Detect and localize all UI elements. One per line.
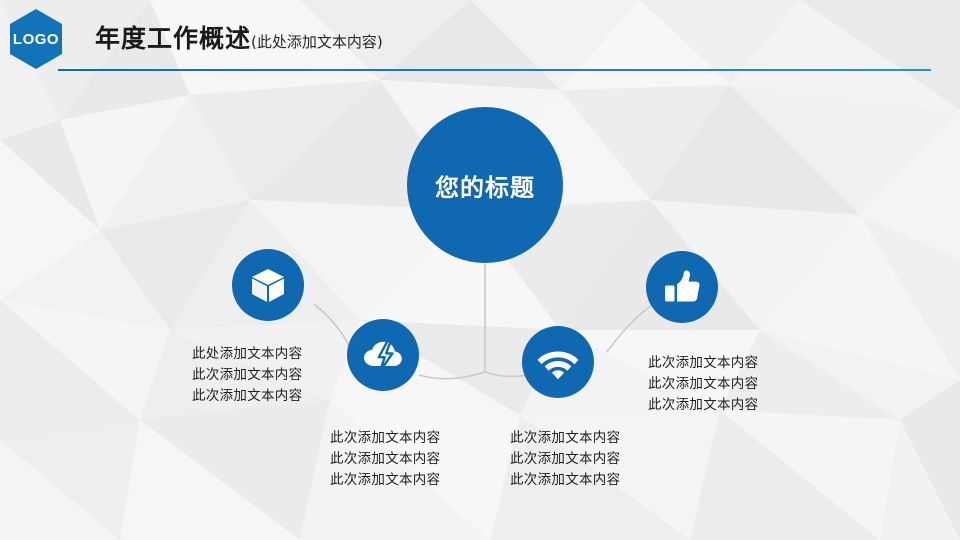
text-line: 此次添加文本内容 bbox=[510, 428, 620, 449]
center-node[interactable]: 您的标题 bbox=[407, 107, 563, 263]
text-line: 此次添加文本内容 bbox=[648, 353, 758, 374]
header-divider bbox=[58, 69, 931, 71]
node-thumbs-up[interactable] bbox=[646, 251, 718, 323]
slide-canvas: LOGO 年度工作概述(此处添加文本内容) 您的标题 bbox=[0, 0, 960, 540]
text-block-1: 此处添加文本内容 此次添加文本内容 此次添加文本内容 bbox=[192, 344, 302, 407]
connector-node2-center bbox=[419, 372, 485, 379]
node-cloud-lightning[interactable] bbox=[347, 319, 419, 391]
text-line: 此次添加文本内容 bbox=[330, 470, 440, 491]
wifi-icon bbox=[537, 345, 579, 379]
text-line: 此次添加文本内容 bbox=[648, 395, 758, 416]
node-cube[interactable] bbox=[232, 249, 304, 321]
text-block-2: 此次添加文本内容 此次添加文本内容 此次添加文本内容 bbox=[330, 428, 440, 491]
cube-icon bbox=[248, 265, 288, 305]
connector-lines bbox=[0, 0, 960, 540]
text-line: 此次添加文本内容 bbox=[330, 449, 440, 470]
text-block-4: 此次添加文本内容 此次添加文本内容 此次添加文本内容 bbox=[648, 353, 758, 416]
slide-header: LOGO 年度工作概述(此处添加文本内容) bbox=[0, 0, 960, 80]
text-block-3: 此次添加文本内容 此次添加文本内容 此次添加文本内容 bbox=[510, 428, 620, 491]
text-line: 此处添加文本内容 bbox=[192, 344, 302, 365]
center-node-label: 您的标题 bbox=[435, 168, 535, 203]
text-line: 此次添加文本内容 bbox=[510, 470, 620, 491]
text-line: 此次添加文本内容 bbox=[510, 449, 620, 470]
title-sub-text: (此处添加文本内容) bbox=[251, 33, 383, 51]
text-line: 此次添加文本内容 bbox=[648, 374, 758, 395]
text-line: 此次添加文本内容 bbox=[330, 428, 440, 449]
connector-node1-node2 bbox=[314, 304, 352, 352]
connector-node3-node4 bbox=[607, 305, 652, 352]
logo-label: LOGO bbox=[13, 31, 59, 48]
text-line: 此次添加文本内容 bbox=[192, 365, 302, 386]
logo-hexagon[interactable]: LOGO bbox=[8, 8, 64, 70]
node-wifi[interactable] bbox=[522, 326, 594, 398]
page-title: 年度工作概述(此处添加文本内容) bbox=[95, 19, 383, 55]
title-main-text: 年度工作概述 bbox=[95, 24, 251, 53]
thumbs-up-icon bbox=[662, 267, 702, 307]
cloud-lightning-icon bbox=[362, 335, 404, 375]
text-line: 此次添加文本内容 bbox=[192, 386, 302, 407]
